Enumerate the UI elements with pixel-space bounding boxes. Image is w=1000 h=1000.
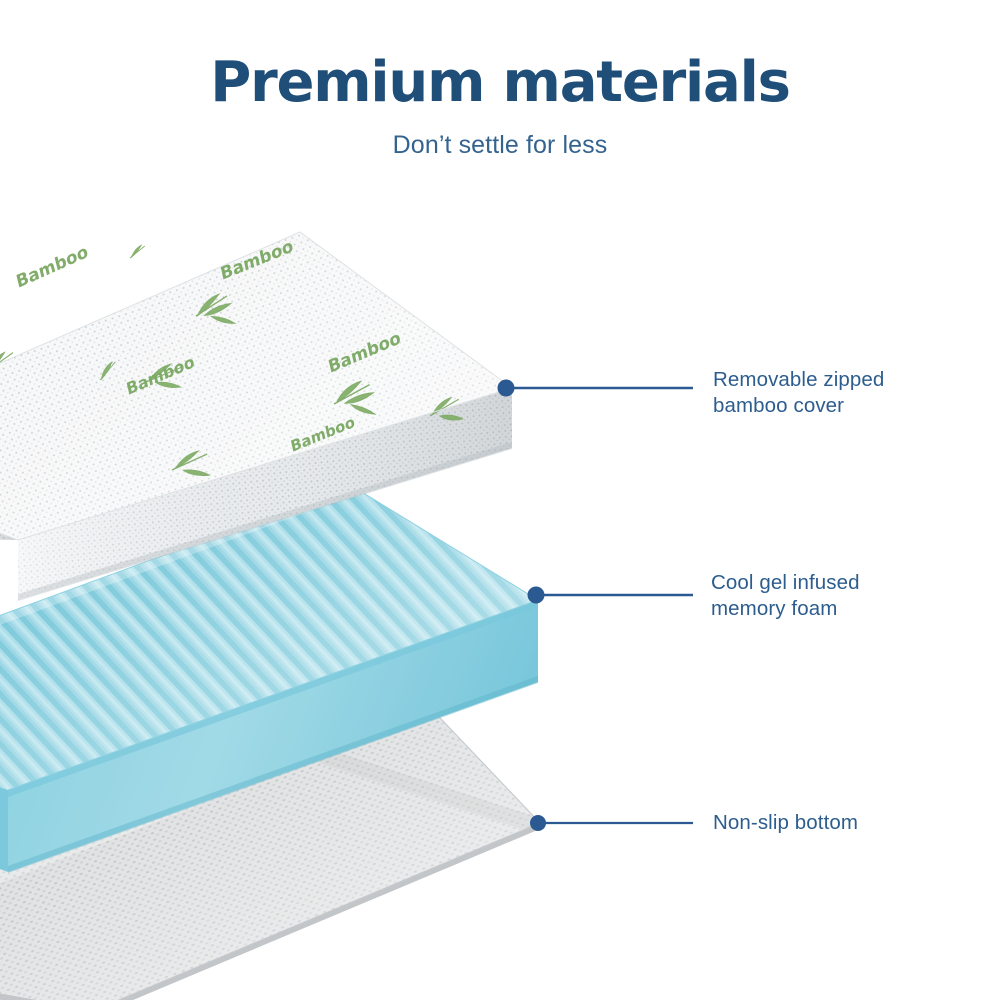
leader-cover (498, 380, 694, 397)
leader-dot-cover (498, 380, 515, 397)
leader-dot-bottom (530, 815, 546, 831)
leader-bottom (530, 815, 693, 831)
callout-label-non-slip-bottom: Non-slip bottom (713, 810, 858, 836)
leader-gel (528, 587, 694, 604)
page-subtitle: Don’t settle for less (0, 131, 1000, 160)
callout-label-removable-zipped-bamboo-cover: Removable zipped bamboo cover (713, 367, 884, 419)
svg-text:Bamboo: Bamboo (14, 242, 90, 293)
header: Premium materials Don’t settle for less (0, 54, 1000, 160)
page-title: Premium materials (0, 54, 1000, 113)
leader-dot-gel (528, 587, 545, 604)
callout-label-cool-gel-infused-memory-foam: Cool gel infused memory foam (711, 570, 860, 622)
infographic-canvas: Bamboo Bamboo Bamboo Bamboo Bamboo (0, 0, 1000, 1000)
